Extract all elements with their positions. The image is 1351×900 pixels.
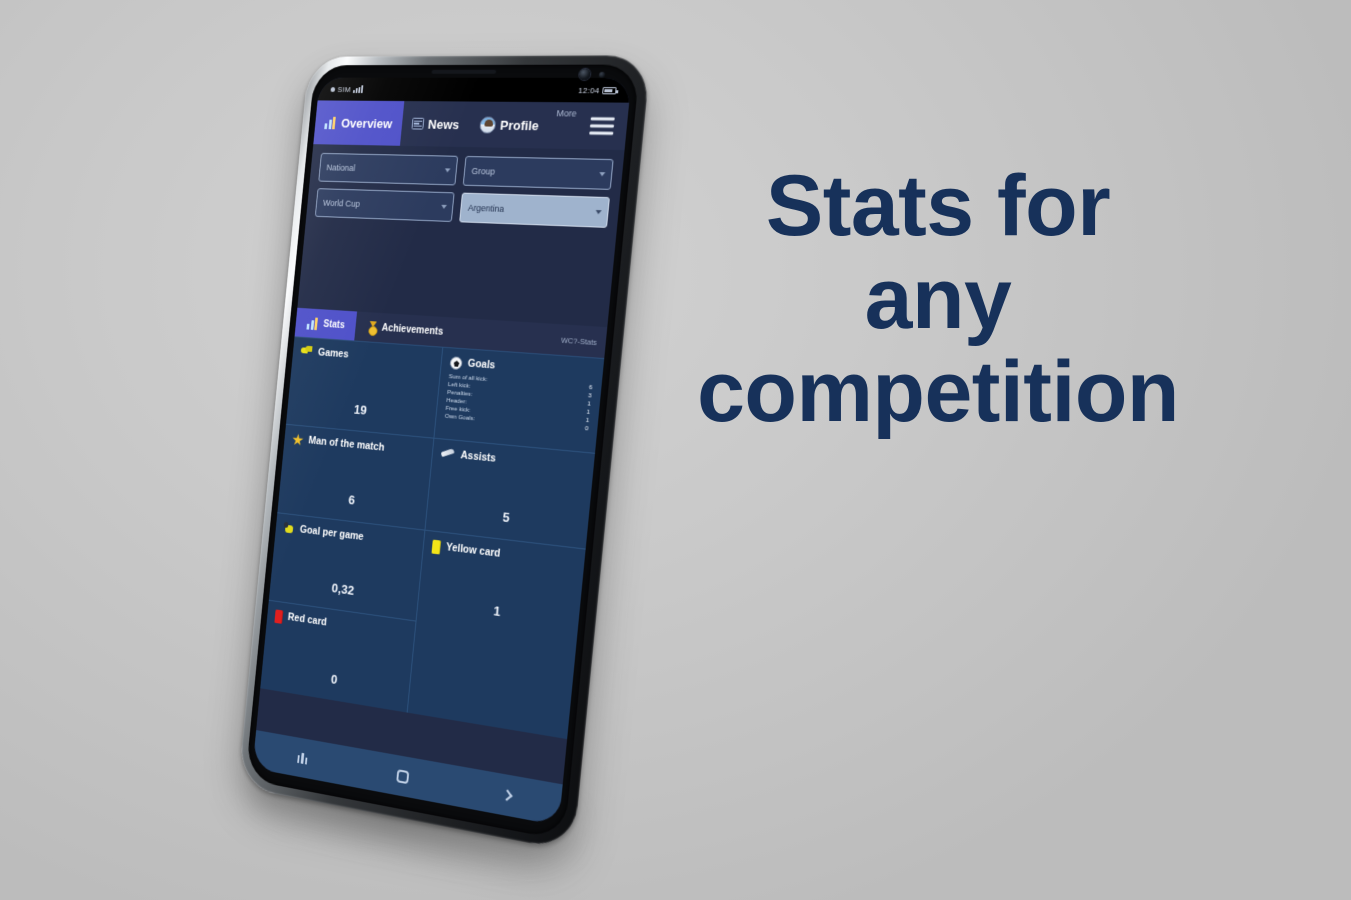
tab-stats-label: Stats xyxy=(323,319,345,331)
group-select-value: Group xyxy=(471,166,495,177)
goals-breakdown-value: 0 xyxy=(585,425,589,432)
avatar-icon xyxy=(479,116,497,133)
goals-breakdown-row: Header: 1 xyxy=(446,397,590,416)
goals-breakdown-value: 1 xyxy=(585,417,589,424)
notification-dot-icon xyxy=(330,87,335,92)
goal-per-game-card-title: Goal per game xyxy=(299,523,415,549)
signal-bars-icon xyxy=(353,85,363,93)
app-top-nav: Overview News Profile More xyxy=(313,100,629,150)
tab-overview[interactable]: Overview xyxy=(313,100,404,145)
games-card-title: Games xyxy=(317,347,433,368)
status-bar-left: SIM xyxy=(330,85,363,94)
country-select[interactable]: Argentina xyxy=(459,193,610,228)
promo-stage: Stats for any competition SIM xyxy=(0,0,1351,900)
recent-apps-icon[interactable] xyxy=(297,752,308,764)
glove-icon xyxy=(283,521,295,534)
goals-breakdown-value: 1 xyxy=(586,409,590,416)
status-bar: SIM 12:04 xyxy=(318,78,632,103)
tab-achievements-label: Achievements xyxy=(381,322,443,337)
yellow-card-card-head: Yellow card xyxy=(432,539,576,571)
goals-breakdown: Sum of all kick: 6 Left kick: 3 Penaltie… xyxy=(445,373,593,432)
goals-breakdown-label: Own Goals: xyxy=(445,413,476,423)
phone-screen: SIM 12:04 Overview xyxy=(252,78,631,826)
red-card-icon xyxy=(274,609,283,623)
carrier-label: SIM xyxy=(337,85,351,94)
goals-card-title: Goals xyxy=(467,358,594,380)
yellow-card-card-value: 1 xyxy=(492,603,501,625)
national-select-value: National xyxy=(326,163,356,173)
man-of-the-match-card[interactable]: Man of the match 6 xyxy=(277,425,434,530)
goal-per-game-card-value: 0,32 xyxy=(331,580,355,603)
goals-breakdown-value: 6 xyxy=(589,384,593,391)
tab-profile-label: Profile xyxy=(500,117,540,133)
goals-breakdown-row: Sum of all kick: 6 xyxy=(448,373,592,391)
goals-breakdown-value: 3 xyxy=(588,392,592,399)
yellow-card-icon xyxy=(432,539,442,554)
assists-card-title: Assists xyxy=(460,450,585,475)
man-of-the-match-card-head: Man of the match xyxy=(292,433,425,458)
competition-select[interactable]: World Cup xyxy=(315,188,455,222)
headline-line-1: Stats for xyxy=(668,160,1208,253)
goals-card-head: Goals xyxy=(449,356,594,380)
assists-card[interactable]: Assists 5 xyxy=(425,439,595,549)
yellow-card-card-title: Yellow card xyxy=(446,541,576,569)
chevron-down-icon xyxy=(595,210,601,214)
games-card-value: 19 xyxy=(353,402,368,424)
hamburger-menu-icon[interactable] xyxy=(589,117,614,135)
promo-headline: Stats for any competition xyxy=(668,160,1208,439)
battery-icon xyxy=(602,87,617,94)
phone-mockup: SIM 12:04 Overview xyxy=(235,55,704,893)
tab-overview-label: Overview xyxy=(341,115,393,130)
chart-icon xyxy=(324,116,337,129)
tab-news[interactable]: News xyxy=(400,101,472,147)
goals-breakdown-row: Penalties: 1 xyxy=(447,389,591,408)
chevron-down-icon xyxy=(445,168,451,172)
chevron-down-icon xyxy=(441,205,447,209)
country-select-value: Argentina xyxy=(468,203,505,214)
group-select[interactable]: Group xyxy=(463,156,614,190)
news-icon xyxy=(411,118,424,130)
medal-icon xyxy=(367,321,378,333)
star-icon xyxy=(292,433,304,446)
goals-breakdown-value: 1 xyxy=(587,400,591,407)
competition-select-value: World Cup xyxy=(323,198,361,209)
yellow-card-card[interactable]: Yellow card 1 xyxy=(416,530,585,644)
ball-icon xyxy=(449,356,462,370)
games-card-head: Games xyxy=(300,345,433,367)
front-camera-icon xyxy=(579,69,591,80)
back-icon[interactable] xyxy=(502,790,513,801)
shoe-icon xyxy=(440,446,456,460)
clock-label: 12:04 xyxy=(578,86,600,95)
national-select[interactable]: National xyxy=(318,153,458,186)
assists-card-head: Assists xyxy=(441,448,586,475)
goals-breakdown-row: Own Goals: 0 xyxy=(445,413,589,433)
status-bar-right: 12:04 xyxy=(578,86,617,95)
home-icon[interactable] xyxy=(396,769,409,784)
games-card[interactable]: Games 19 xyxy=(286,337,443,439)
headline-line-3: competition xyxy=(668,346,1208,439)
earpiece-icon xyxy=(431,70,496,74)
tab-news-label: News xyxy=(427,116,460,131)
man-of-the-match-card-value: 6 xyxy=(347,492,355,513)
proximity-sensor-icon xyxy=(599,71,606,77)
front-sensors xyxy=(579,69,606,80)
goals-card[interactable]: Goals Sum of all kick: 6 Left kick: 3 xyxy=(434,348,604,454)
chart-icon xyxy=(306,317,319,330)
more-label[interactable]: More xyxy=(556,108,577,118)
goals-breakdown-row: Free kick: 1 xyxy=(445,405,589,424)
tab-profile[interactable]: Profile xyxy=(467,102,551,149)
chevron-down-icon xyxy=(599,172,605,176)
headline-line-2: any xyxy=(668,253,1208,346)
red-card-card-value: 0 xyxy=(330,672,338,693)
stats-grid: Games 19 Goals Sum xyxy=(260,336,604,739)
goals-breakdown-row: Left kick: 3 xyxy=(448,381,592,400)
phone-frame: SIM 12:04 Overview xyxy=(238,55,651,851)
filter-row: National Group World Cup Argentina xyxy=(306,144,624,228)
assists-card-value: 5 xyxy=(501,509,510,531)
tab-stats[interactable]: Stats xyxy=(295,308,358,341)
man-of-the-match-card-title: Man of the match xyxy=(308,435,424,459)
stats-note-label: WC?-Stats xyxy=(561,335,598,347)
boots-icon xyxy=(300,345,313,355)
phone-bezel: SIM 12:04 Overview xyxy=(245,65,640,841)
